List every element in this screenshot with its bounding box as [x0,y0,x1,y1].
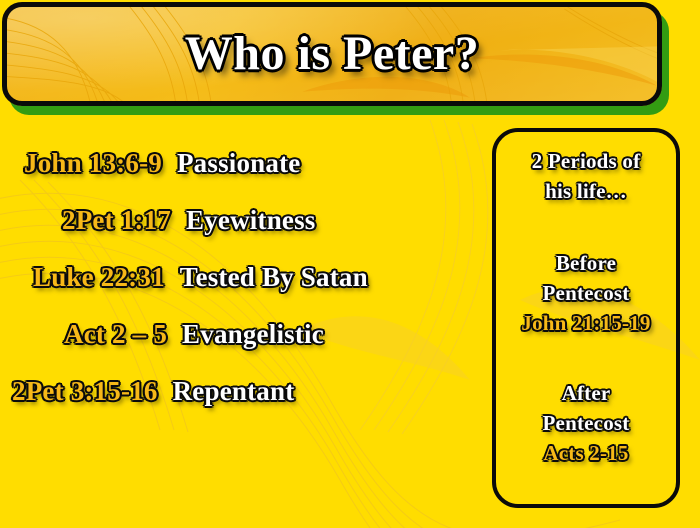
page-title: Who is Peter? [7,7,657,101]
trait-description: Tested By Satan [180,262,368,293]
trait-description: Evangelistic [182,319,324,350]
scripture-reference: Act 2 – 5 [64,319,167,350]
period-after-reference: Acts 2-15 [502,438,670,468]
list-item: Luke 22:31 Tested By Satan [0,262,470,319]
trait-description: Passionate [177,148,301,179]
period-before-line2: Pentecost [502,278,670,308]
scripture-reference-list: John 13:6-9 Passionate 2Pet 1:17 Eyewitn… [0,148,470,433]
list-item: 2Pet 1:17 Eyewitness [0,205,470,262]
slide-canvas: Who is Peter? John 13:6-9 Passionate 2Pe… [0,0,700,528]
periods-heading-line1: 2 Periods of [502,146,670,176]
title-banner: Who is Peter? [2,2,662,106]
period-before-reference: John 21:15-19 [502,308,670,338]
scripture-reference: Luke 22:31 [33,262,165,293]
scripture-reference: 2Pet 3:15-16 [12,376,158,407]
periods-heading-line2: his life… [502,176,670,206]
scripture-reference: John 13:6-9 [24,148,162,179]
list-item: Act 2 – 5 Evangelistic [0,319,470,376]
list-item: 2Pet 3:15-16 Repentant [0,376,470,433]
scripture-reference: 2Pet 1:17 [62,205,171,236]
spacer [502,338,670,378]
list-item: John 13:6-9 Passionate [0,148,470,205]
period-after-line1: After [502,378,670,408]
period-before-line1: Before [502,248,670,278]
spacer [502,206,670,248]
trait-description: Eyewitness [186,205,316,236]
period-after-line2: Pentecost [502,408,670,438]
trait-description: Repentant [173,376,295,407]
periods-panel: 2 Periods of his life… Before Pentecost … [492,128,680,508]
